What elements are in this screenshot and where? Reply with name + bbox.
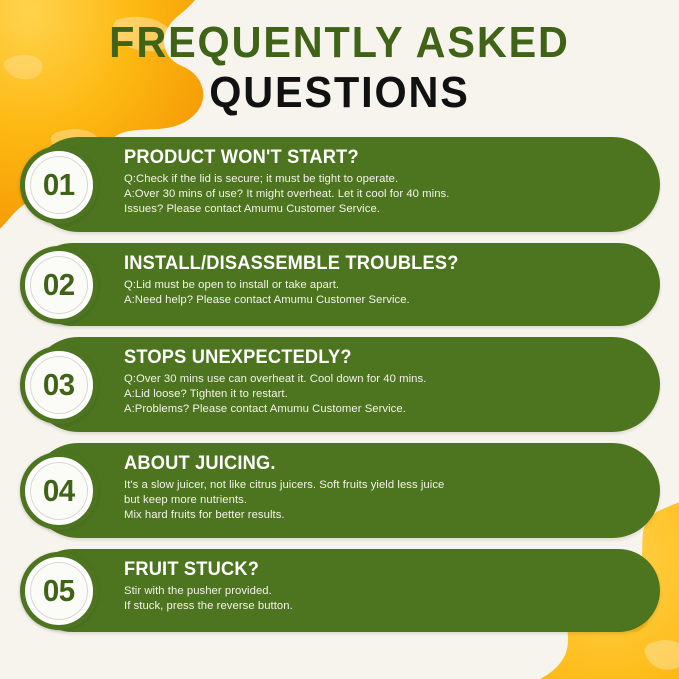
faq-number-badge-01: 01 xyxy=(20,146,98,224)
page-title: FREQUENTLY ASKED QUESTIONS xyxy=(0,18,679,118)
faq-heading-05: FRUIT STUCK? xyxy=(124,558,614,581)
faq-number-05: 05 xyxy=(43,573,75,609)
faq-line: A:Need help? Please contact Amumu Custom… xyxy=(124,293,634,308)
faq-line: but keep more nutrients. xyxy=(124,493,634,508)
faq-list: 01 PRODUCT WON'T START? Q:Check if the l… xyxy=(0,137,679,643)
faq-line: Mix hard fruits for better results. xyxy=(124,508,634,523)
faq-content-01: PRODUCT WON'T START? Q:Check if the lid … xyxy=(124,146,634,217)
faq-number-badge-02: 02 xyxy=(20,246,98,324)
faq-content-05: FRUIT STUCK? Stir with the pusher provid… xyxy=(124,558,634,614)
faq-number-02: 02 xyxy=(43,267,75,303)
faq-heading-02: INSTALL/DISASSEMBLE TROUBLES? xyxy=(124,252,614,275)
faq-number-badge-03: 03 xyxy=(20,346,98,424)
faq-heading-01: PRODUCT WON'T START? xyxy=(124,146,614,169)
faq-line: A:Lid loose? Tighten it to restart. xyxy=(124,387,634,402)
faq-number-badge-05: 05 xyxy=(20,552,98,630)
faq-infographic: FREQUENTLY ASKED QUESTIONS 01 PRODUCT WO… xyxy=(0,0,679,679)
faq-card-02[interactable]: 02 INSTALL/DISASSEMBLE TROUBLES? Q:Lid m… xyxy=(31,243,660,326)
faq-content-04: ABOUT JUICING. It's a slow juicer, not l… xyxy=(124,452,634,523)
faq-content-03: STOPS UNEXPECTEDLY? Q:Over 30 mins use c… xyxy=(124,346,634,417)
page-title-line-2: QUESTIONS xyxy=(20,68,658,118)
faq-number-04: 04 xyxy=(43,473,75,509)
faq-line: If stuck, press the reverse button. xyxy=(124,599,634,614)
faq-number-01: 01 xyxy=(43,167,75,203)
faq-card-05[interactable]: 05 FRUIT STUCK? Stir with the pusher pro… xyxy=(31,549,660,632)
faq-card-03[interactable]: 03 STOPS UNEXPECTEDLY? Q:Over 30 mins us… xyxy=(31,337,660,432)
faq-line: Q:Check if the lid is secure; it must be… xyxy=(124,172,634,187)
faq-line: Issues? Please contact Amumu Customer Se… xyxy=(124,202,634,217)
faq-number-03: 03 xyxy=(43,367,75,403)
faq-heading-03: STOPS UNEXPECTEDLY? xyxy=(124,346,614,369)
faq-line: A:Problems? Please contact Amumu Custome… xyxy=(124,402,634,417)
faq-card-04[interactable]: 04 ABOUT JUICING. It's a slow juicer, no… xyxy=(31,443,660,538)
faq-line: Q:Lid must be open to install or take ap… xyxy=(124,278,634,293)
faq-heading-04: ABOUT JUICING. xyxy=(124,452,614,475)
faq-content-02: INSTALL/DISASSEMBLE TROUBLES? Q:Lid must… xyxy=(124,252,634,308)
faq-line: A:Over 30 mins of use? It might overheat… xyxy=(124,187,634,202)
faq-line: It's a slow juicer, not like citrus juic… xyxy=(124,478,634,493)
page-title-line-1: FREQUENTLY ASKED xyxy=(20,18,658,68)
faq-card-01[interactable]: 01 PRODUCT WON'T START? Q:Check if the l… xyxy=(31,137,660,232)
faq-line: Stir with the pusher provided. xyxy=(124,584,634,599)
faq-line: Q:Over 30 mins use can overheat it. Cool… xyxy=(124,372,634,387)
faq-number-badge-04: 04 xyxy=(20,452,98,530)
